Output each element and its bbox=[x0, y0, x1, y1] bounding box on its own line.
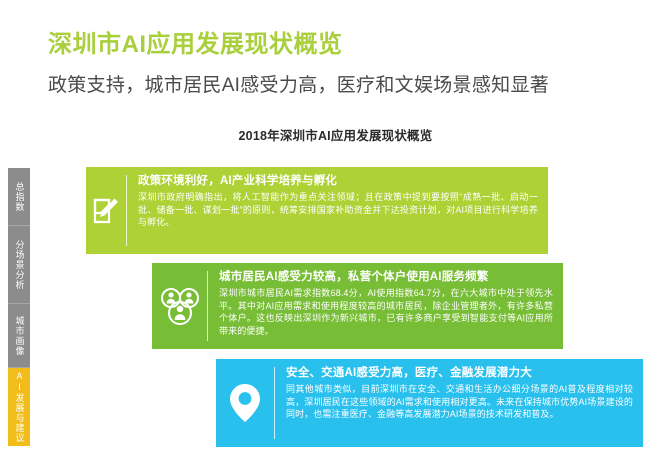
page-title: 深圳市AI应用发展现状概览 bbox=[48, 24, 343, 59]
card-residents-title: 城市居民AI感受力较高，私营个体户使用AI服务频繁 bbox=[219, 270, 553, 285]
sidebar-item-total-index[interactable]: 总指数 bbox=[8, 168, 30, 226]
location-pin-icon bbox=[227, 381, 263, 425]
card-residents-text: 深圳市城市居民AI需求指数68.4分，AI使用指数64.7分，在六大城市中处于领… bbox=[219, 287, 553, 337]
card-policy-body: 政策环境利好，AI产业科学培养与孵化 深圳市政府明确指出，将人工智能作为重点关注… bbox=[127, 167, 548, 254]
sidebar-item-city-profile[interactable]: 城市画像 bbox=[8, 304, 30, 368]
card-scenarios: 安全、交通AI感受力高，医疗、金融发展潜力大 同其他城市类似，目前深圳市在安全、… bbox=[216, 359, 643, 447]
people-group-icon bbox=[158, 286, 202, 326]
sidebar-item-scenario-analysis[interactable]: 分场景分析 bbox=[8, 226, 30, 304]
card-scenarios-icon-wrap bbox=[216, 359, 274, 447]
card-policy: 政策环境利好，AI产业科学培养与孵化 深圳市政府明确指出，将人工智能作为重点关注… bbox=[86, 167, 548, 254]
page-header: 深圳市AI应用发展现状概览 政策支持，城市居民AI感受力高，医疗和文娱场景感知显… bbox=[0, 0, 671, 112]
sidebar-nav: 总指数 分场景分析 城市画像 AI发展与建议 bbox=[8, 168, 30, 446]
pen-document-icon bbox=[92, 196, 120, 226]
card-scenarios-body: 安全、交通AI感受力高，医疗、金融发展潜力大 同其他城市类似，目前深圳市在安全、… bbox=[275, 359, 643, 447]
card-scenarios-text: 同其他城市类似，目前深圳市在安全、交通和生活办公细分场景的AI普及程度相对较高，… bbox=[286, 383, 633, 421]
card-policy-title: 政策环境利好，AI产业科学培养与孵化 bbox=[138, 174, 538, 189]
page-subtitle: 政策支持，城市居民AI感受力高，医疗和文娱场景感知显著 bbox=[48, 70, 549, 97]
card-residents-body: 城市居民AI感受力较高，私营个体户使用AI服务频繁 深圳市城市居民AI需求指数6… bbox=[208, 263, 563, 349]
card-scenarios-title: 安全、交通AI感受力高，医疗、金融发展潜力大 bbox=[286, 366, 633, 381]
chart-title: 2018年深圳市AI应用发展现状概览 bbox=[0, 125, 671, 144]
sidebar-item-ai-development[interactable]: AI发展与建议 bbox=[8, 368, 30, 446]
card-policy-text: 深圳市政府明确指出，将人工智能作为重点关注领域；且在政策中提到要按照“成熟一批、… bbox=[138, 191, 538, 229]
card-policy-icon-wrap bbox=[86, 167, 126, 254]
card-residents-icon-wrap bbox=[152, 263, 207, 349]
card-residents: 城市居民AI感受力较高，私营个体户使用AI服务频繁 深圳市城市居民AI需求指数6… bbox=[152, 263, 563, 349]
